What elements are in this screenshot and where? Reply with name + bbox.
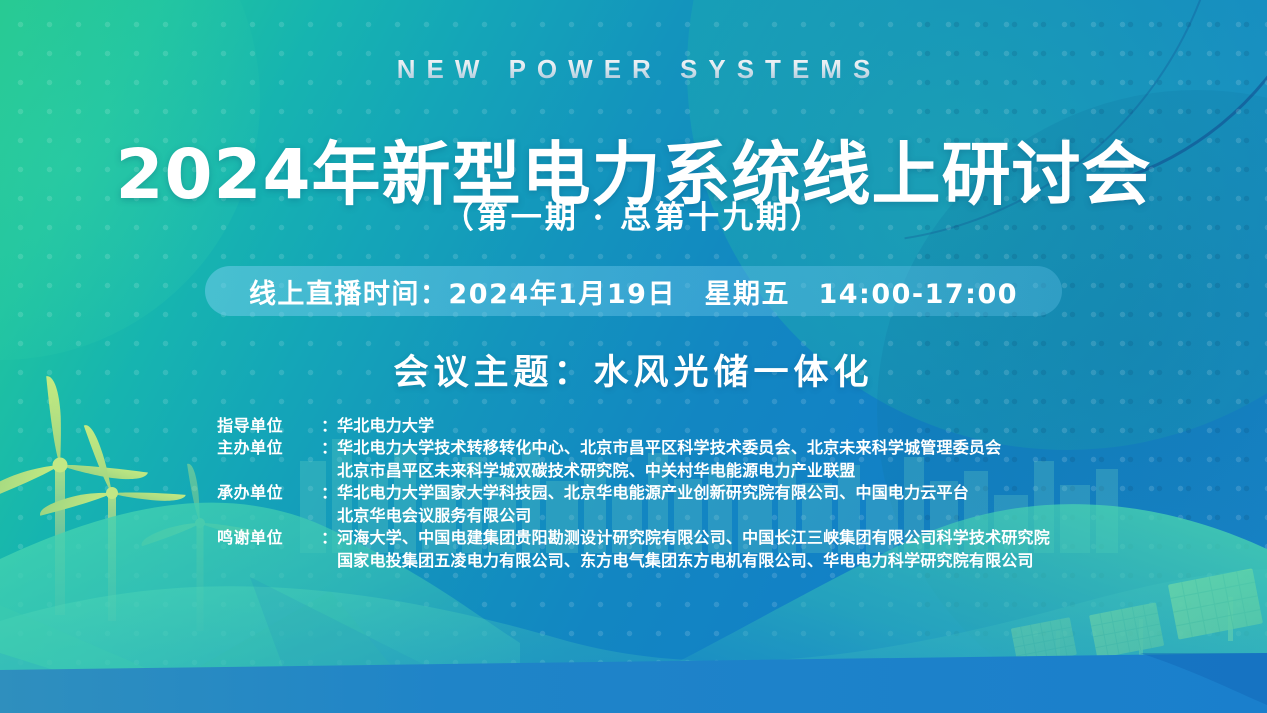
live-time-text: 线上直播时间：2024年1月19日 星期五 14:00-17:00 [249, 272, 1018, 311]
organizer-colon: ： [321, 485, 337, 501]
eyebrow-title: NEW POWER SYSTEMS [0, 54, 1267, 85]
organizer-label: 主办单位 [217, 440, 321, 456]
conference-poster: NEW POWER SYSTEMS 2024年新型电力系统线上研讨会 （第一期 … [0, 0, 1267, 713]
organizer-line: 国家电投集团五凌电力有限公司、东方电气集团东方电机有限公司、华电电力科学研究院有… [337, 553, 1050, 569]
organizer-line: 北京市昌平区未来科学城双碳技术研究院、中关村华电能源电力产业联盟 [337, 463, 1050, 479]
organizers-table: 指导单位：华北电力大学主办单位：华北电力大学技术转移转化中心、北京市昌平区科学技… [217, 418, 1050, 575]
organizers-block: 指导单位：华北电力大学主办单位：华北电力大学技术转移转化中心、北京市昌平区科学技… [0, 418, 1267, 575]
organizer-values: 华北电力大学 [337, 418, 1050, 434]
organizer-values: 华北电力大学技术转移转化中心、北京市昌平区科学技术委员会、北京未来科学城管理委员… [337, 440, 1050, 479]
organizer-line: 华北电力大学技术转移转化中心、北京市昌平区科学技术委员会、北京未来科学城管理委员… [337, 440, 1050, 456]
organizer-colon: ： [321, 440, 337, 456]
organizer-label: 鸣谢单位 [217, 530, 321, 546]
page-subtitle: （第一期 · 总第十九期） [0, 192, 1267, 237]
organizer-line: 河海大学、中国电建集团贵阳勘测设计研究院有限公司、中国长江三峡集团有限公司科学技… [337, 530, 1050, 546]
organizer-line: 北京华电会议服务有限公司 [337, 508, 1050, 524]
organizer-label: 指导单位 [217, 418, 321, 434]
organizer-colon: ： [321, 530, 337, 546]
organizer-line: 华北电力大学 [337, 418, 1050, 434]
organizer-values: 河海大学、中国电建集团贵阳勘测设计研究院有限公司、中国长江三峡集团有限公司科学技… [337, 530, 1050, 569]
organizer-values: 华北电力大学国家大学科技园、北京华电能源产业创新研究院有限公司、中国电力云平台北… [337, 485, 1050, 524]
organizer-row: 指导单位：华北电力大学 [217, 418, 1050, 434]
conference-theme: 会议主题：水风光储一体化 [0, 344, 1267, 395]
organizer-row: 承办单位：华北电力大学国家大学科技园、北京华电能源产业创新研究院有限公司、中国电… [217, 485, 1050, 524]
organizer-label: 承办单位 [217, 485, 321, 501]
poster-content: NEW POWER SYSTEMS 2024年新型电力系统线上研讨会 （第一期 … [0, 0, 1267, 713]
organizer-line: 华北电力大学国家大学科技园、北京华电能源产业创新研究院有限公司、中国电力云平台 [337, 485, 1050, 501]
organizer-row: 鸣谢单位：河海大学、中国电建集团贵阳勘测设计研究院有限公司、中国长江三峡集团有限… [217, 530, 1050, 569]
organizer-row: 主办单位：华北电力大学技术转移转化中心、北京市昌平区科学技术委员会、北京未来科学… [217, 440, 1050, 479]
organizer-colon: ： [321, 418, 337, 434]
live-time-banner: 线上直播时间：2024年1月19日 星期五 14:00-17:00 [205, 266, 1062, 316]
